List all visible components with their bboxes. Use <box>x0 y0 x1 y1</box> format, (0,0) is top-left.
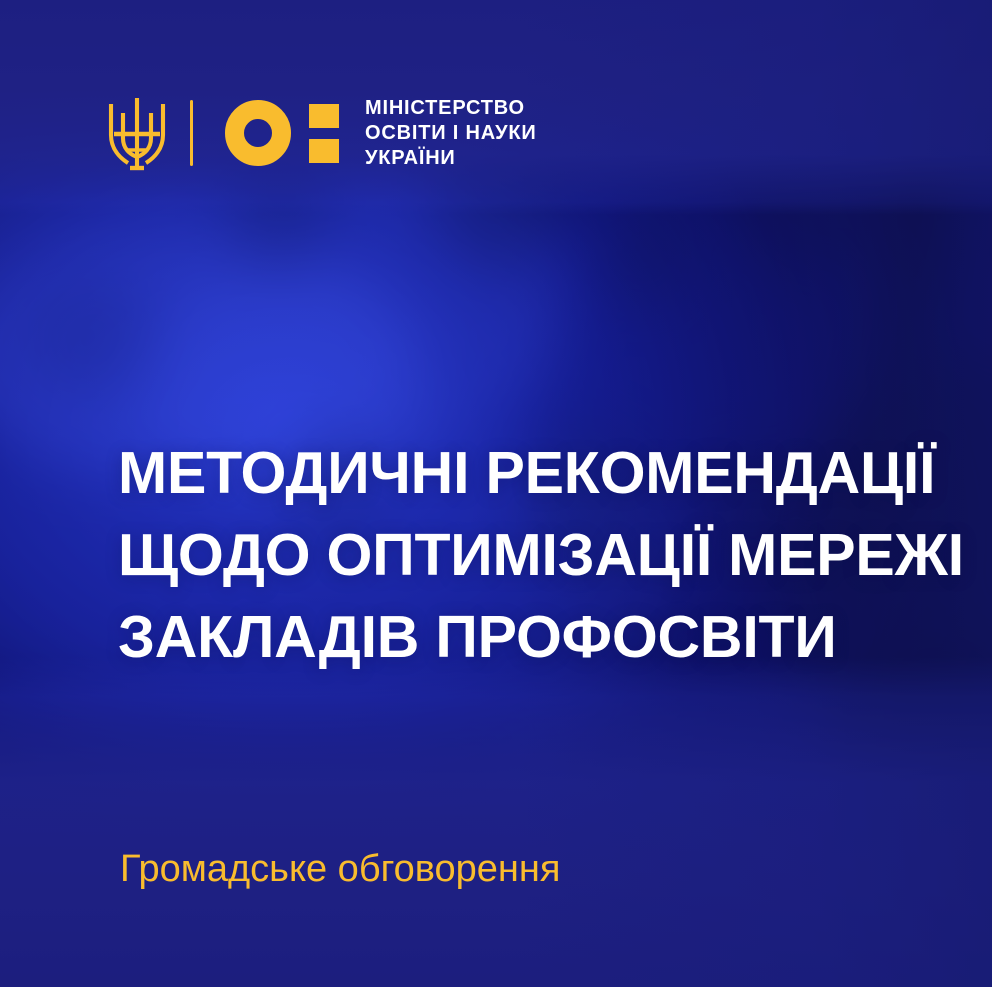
logo-divider <box>190 100 193 166</box>
ministry-line-3: УКРАЇНИ <box>365 146 537 171</box>
subtitle: Громадське обговорення <box>120 846 560 892</box>
mon-o-colon-mark <box>225 100 339 166</box>
colon-squares-icon <box>309 104 339 163</box>
poster-canvas: МІНІСТЕРСТВО ОСВІТИ І НАУКИ УКРАЇНИ МЕТО… <box>0 0 992 987</box>
headline-line-1: МЕТОДИЧНІ РЕКОМЕНДАЦІЇ <box>118 432 964 514</box>
ukraine-trident-icon <box>106 94 168 172</box>
headline-line-3: ЗАКЛАДІВ ПРОФОСВІТИ <box>118 596 964 678</box>
ring-o-icon <box>225 100 291 166</box>
headline-line-2: ЩОДО ОПТИМІЗАЦІЇ МЕРЕЖІ <box>118 514 964 596</box>
colon-square-top <box>309 104 339 128</box>
ministry-line-1: МІНІСТЕРСТВО <box>365 96 537 121</box>
ministry-line-2: ОСВІТИ І НАУКИ <box>365 121 537 146</box>
colon-square-bottom <box>309 139 339 163</box>
page-title: МЕТОДИЧНІ РЕКОМЕНДАЦІЇ ЩОДО ОПТИМІЗАЦІЇ … <box>118 432 964 678</box>
ministry-logo: МІНІСТЕРСТВО ОСВІТИ І НАУКИ УКРАЇНИ <box>106 93 537 173</box>
ministry-name: МІНІСТЕРСТВО ОСВІТИ І НАУКИ УКРАЇНИ <box>365 96 537 171</box>
